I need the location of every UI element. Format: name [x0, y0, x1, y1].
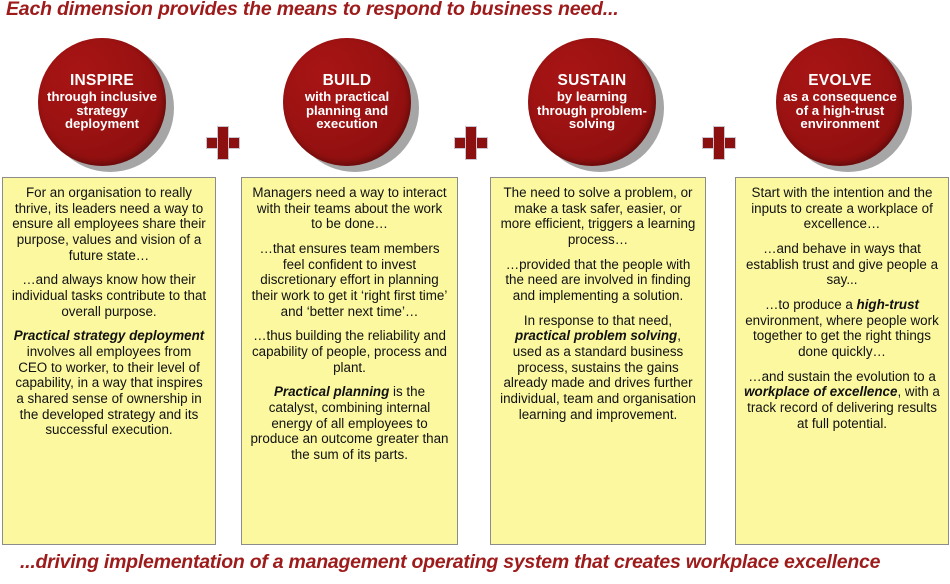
- circle-title-build: BUILD: [289, 73, 405, 89]
- description-panel-evolve: Start with the intention and the inputs …: [735, 177, 949, 545]
- description-panel-sustain: The need to solve a problem, or make a t…: [490, 177, 706, 545]
- circle-title-inspire: INSPIRE: [44, 73, 160, 89]
- dimension-circle-sustain[interactable]: SUSTAIN by learning through problem-solv…: [528, 38, 656, 166]
- dimension-circle-build[interactable]: BUILD with practical planning and execut…: [283, 38, 411, 166]
- dimension-circle-inspire[interactable]: INSPIRE through inclusive strategy deplo…: [38, 38, 166, 166]
- circle-disc: SUSTAIN by learning through problem-solv…: [528, 38, 656, 166]
- plus-bar-vertical: [465, 126, 477, 160]
- panel-paragraph: The need to solve a problem, or make a t…: [499, 185, 697, 248]
- panel-paragraph: …thus building the reliability and capab…: [250, 328, 449, 375]
- panel-paragraph: Start with the intention and the inputs …: [744, 185, 940, 232]
- panel-paragraph: …and behave in ways that establish trust…: [744, 241, 940, 288]
- plus-icon-3: [702, 126, 736, 160]
- diagram-canvas: Each dimension provides the means to res…: [0, 0, 950, 584]
- description-panel-build: Managers need a way to interact with the…: [241, 177, 458, 545]
- dimension-circle-row: INSPIRE through inclusive strategy deplo…: [0, 38, 950, 173]
- circle-title-evolve: EVOLVE: [782, 73, 898, 89]
- circle-disc: INSPIRE through inclusive strategy deplo…: [38, 38, 166, 166]
- description-panel-inspire: For an organisation to really thrive, it…: [2, 177, 216, 545]
- circle-subtitle-evolve: as a consequence of a high-trust environ…: [782, 90, 898, 131]
- panel-paragraph: Managers need a way to interact with the…: [250, 185, 449, 232]
- header-title: Each dimension provides the means to res…: [6, 0, 618, 21]
- panel-paragraph: …that ensures team members feel confiden…: [250, 241, 449, 319]
- plus-bar-vertical: [713, 126, 725, 160]
- circle-subtitle-build: with practical planning and execution: [289, 90, 405, 131]
- panel-paragraph: Practical planning is the catalyst, comb…: [250, 384, 449, 462]
- panel-paragraph: In response to that need, practical prob…: [499, 313, 697, 423]
- circle-title-sustain: SUSTAIN: [534, 73, 650, 89]
- panel-paragraph: For an organisation to really thrive, it…: [11, 185, 207, 263]
- circle-disc: BUILD with practical planning and execut…: [283, 38, 411, 166]
- panel-paragraph: …and always know how their individual ta…: [11, 272, 207, 319]
- dimension-circle-evolve[interactable]: EVOLVE as a consequence of a high-trust …: [776, 38, 904, 166]
- circle-disc: EVOLVE as a consequence of a high-trust …: [776, 38, 904, 166]
- panel-paragraph: …provided that the people with the need …: [499, 257, 697, 304]
- plus-icon-1: [206, 126, 240, 160]
- footer-caption: ...driving implementation of a managemen…: [20, 551, 880, 574]
- circle-subtitle-sustain: by learning through problem-solving: [534, 90, 650, 131]
- circle-subtitle-inspire: through inclusive strategy deployment: [44, 90, 160, 131]
- plus-bar-vertical: [217, 126, 229, 160]
- plus-icon-2: [454, 126, 488, 160]
- panel-paragraph: …to produce a high-trust environment, wh…: [744, 297, 940, 360]
- panel-paragraph: …and sustain the evolution to a workplac…: [744, 369, 940, 432]
- panel-paragraph: Practical strategy deployment involves a…: [11, 328, 207, 438]
